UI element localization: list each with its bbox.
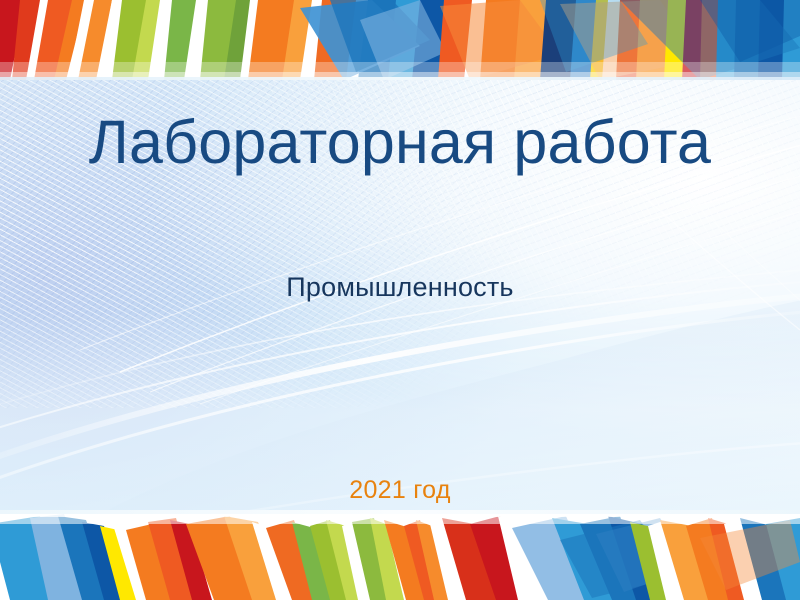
top-decorative-band	[0, 0, 800, 80]
slide-subtitle: Промышленность	[0, 272, 800, 303]
slide-year: 2021 год	[0, 476, 800, 505]
presentation-slide: Лабораторная работа Промышленность 2021 …	[0, 0, 800, 600]
bottom-decorative-band	[0, 510, 800, 600]
slide-title: Лабораторная работа	[0, 110, 800, 176]
